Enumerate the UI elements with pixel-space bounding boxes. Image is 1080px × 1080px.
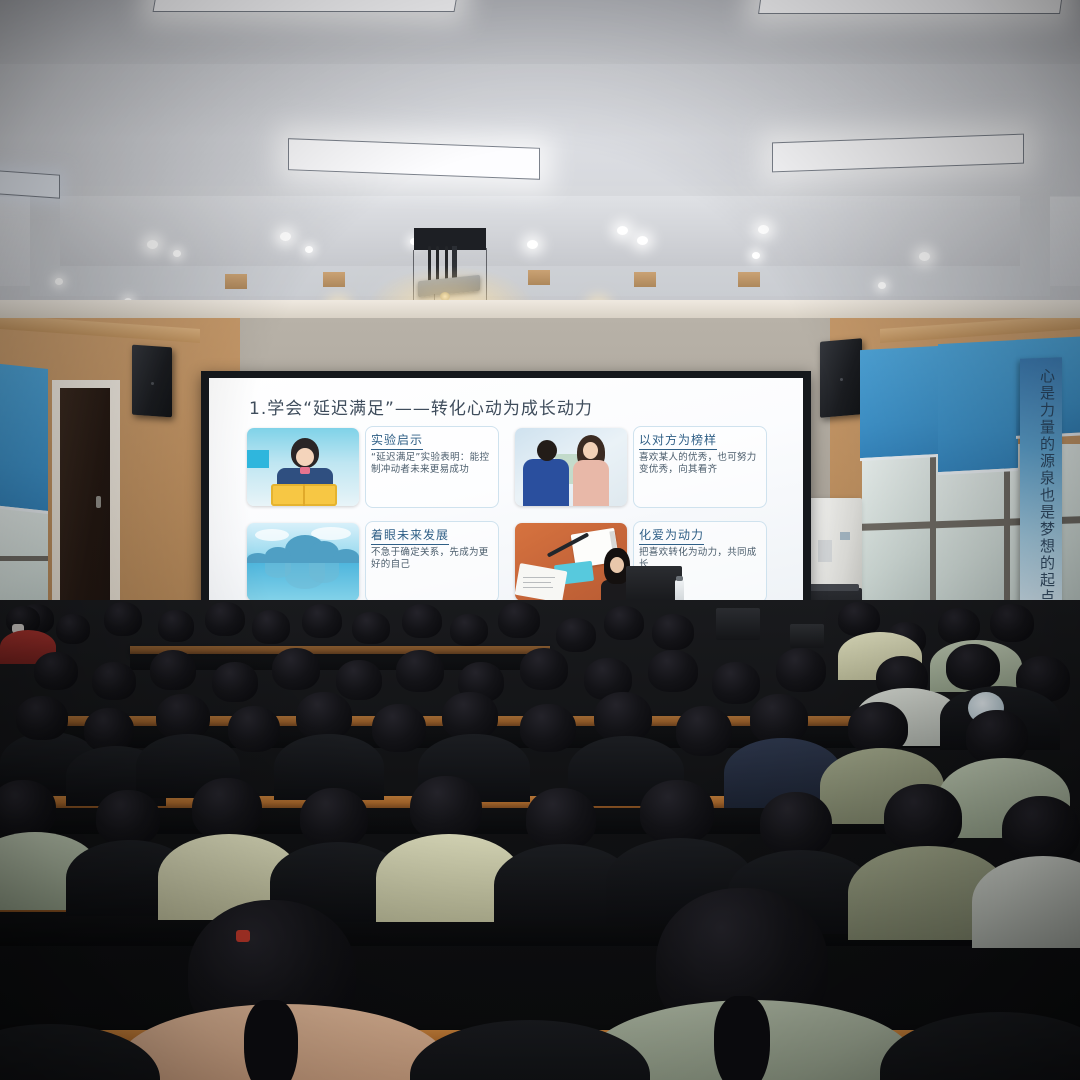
audience-area [0,600,1080,1080]
ceiling-panel-light [288,138,540,180]
student-head [946,644,1000,690]
student-head [228,706,280,752]
student-ponytail [714,996,770,1080]
student-head [520,648,568,690]
student-head [838,602,880,636]
student-head [396,650,444,692]
student-head [594,692,652,742]
student-head [966,710,1028,764]
window-mullion [0,556,48,561]
student-head [92,662,136,700]
ceiling-downlight [147,240,158,249]
student-head [990,604,1034,642]
slide-card-textbox: 以对方为榜样 喜欢某人的优秀，也可努力变优秀，向其看齐 [633,426,767,508]
slide-card-body: 喜欢某人的优秀，也可努力变优秀，向其看齐 [639,452,761,477]
window-mullion [930,444,936,626]
student-head [938,608,980,644]
student-head [300,788,368,848]
cabinet-label-sticker [840,532,850,540]
door-handle-icon[interactable] [96,496,101,508]
speaker-driver-icon [840,378,843,381]
hair-tie [236,930,250,942]
ceiling-downlight [752,252,760,259]
student-head [1002,796,1080,864]
wall-speaker-left [132,345,172,418]
student-head [16,696,68,740]
student-head [352,612,390,644]
ceiling-downlight [173,250,181,257]
ceiling-panel-light [0,169,60,198]
ceiling-downlight [55,278,63,285]
window-right-a [862,452,932,624]
water-bottle-cap [676,576,683,581]
ceiling-panel-light [153,0,460,12]
window-blind-left[interactable] [0,363,48,514]
student-head [56,614,90,644]
slide-card-grid: 实验启示 “延迟满足”实验表明：能控制冲动者未来更易成功 以对方为榜样 喜欢某人… [247,428,767,603]
ceiling-downlight [919,252,930,261]
student-head [776,648,826,692]
student-head [750,694,808,744]
student-head [205,602,245,636]
student-head [0,780,56,838]
cabinet-panel [818,540,832,562]
student-head [712,662,760,704]
ceiling-panel-light [758,0,1064,14]
ceiling-recess [60,196,1020,266]
ceiling-downlight [637,236,648,245]
student-head [34,652,78,690]
rear-monitor [716,608,760,640]
student-head [450,614,488,646]
student-head [442,692,498,740]
slide-card-textbox: 着眼未来发展 不急于确定关系，先成为更好的自己 [365,521,499,603]
ceiling [0,0,1080,330]
ceiling-vent [225,274,247,289]
student-head [272,648,320,690]
student-shoulders-foreground [880,1012,1080,1080]
student-head [676,706,732,756]
ceiling-vent [323,272,345,287]
ceiling-downlight [527,240,538,249]
student-head [96,790,160,846]
student-head [212,662,258,702]
window-blind-right-a[interactable] [860,346,940,461]
projection-screen: 1.学会“延迟满足”——转化心动为成长动力 实验启示 “延迟满足”实验表明：能控… [209,378,803,615]
window-blind-right-b[interactable] [938,340,1018,475]
rear-monitor [790,624,824,648]
couple-facing-photo [515,428,627,506]
student-head [372,704,426,752]
speaker-driver-icon [151,382,154,385]
ceiling-downlight [758,225,769,234]
ceiling-panel-light [772,134,1024,173]
student-head [648,650,698,692]
student-head [158,610,194,642]
ceiling-vent [738,272,760,287]
student-head [520,704,576,752]
lecture-hall-photo: 心是力量的源泉也是梦想的起点 1.学会“延迟满足”——转化心动为成长动力 实验启… [0,0,1080,1080]
slide-card-textbox: 实验启示 “延迟满足”实验表明：能控制冲动者未来更易成功 [365,426,499,508]
wall-trim [0,300,1080,318]
ceiling-vent [634,272,656,287]
slide-card: 着眼未来发展 不急于确定关系，先成为更好的自己 [247,523,499,605]
mountain-lake-landscape-photo [247,523,359,601]
student-head [884,784,962,852]
student-head [296,692,352,740]
student-head [526,788,596,850]
lectern-monitor [626,566,682,604]
slide-card: 实验启示 “延迟满足”实验表明：能控制冲动者未来更易成功 [247,428,499,510]
student-reading-book-photo [247,428,359,506]
ceiling-downlight [305,246,313,253]
student-head [302,604,342,638]
student-head [498,602,540,638]
student-head [150,650,196,690]
desk-row [130,646,550,654]
slide-card-body: “延迟满足”实验表明：能控制冲动者未来更易成功 [371,452,493,477]
student-head [640,780,714,844]
slide-card: 以对方为榜样 喜欢某人的优秀，也可努力变优秀，向其看齐 [515,428,767,510]
ceiling-downlight [280,232,291,241]
slide-card-heading: 化爱为动力 [639,529,704,545]
slide-card-heading: 以对方为榜样 [639,434,717,450]
slide-card-heading: 着眼未来发展 [371,529,449,545]
projector-mount-plate [414,228,486,250]
ceiling-downlight [617,226,628,235]
student-head [556,618,596,652]
student-head [156,694,210,740]
student-head [604,606,644,640]
student-head [848,702,908,754]
student-head [336,660,382,700]
banner-text: 心是力量的源泉也是梦想的起点 [1026,368,1056,606]
ceiling-vent [528,270,550,285]
student-head [652,614,694,650]
student-head [410,776,482,840]
student-ponytail [244,1000,298,1080]
student-head [192,778,262,840]
slide-card-heading: 实验启示 [371,434,423,450]
slide-title: 1.学会“延迟满足”——转化心动为成长动力 [249,394,593,419]
student-head [252,610,290,644]
slide-card-body: 不急于确定关系，先成为更好的自己 [371,547,493,572]
student-head [402,604,442,638]
student-head [104,602,142,636]
ceiling-downlight [878,282,886,289]
student-head [760,792,832,856]
